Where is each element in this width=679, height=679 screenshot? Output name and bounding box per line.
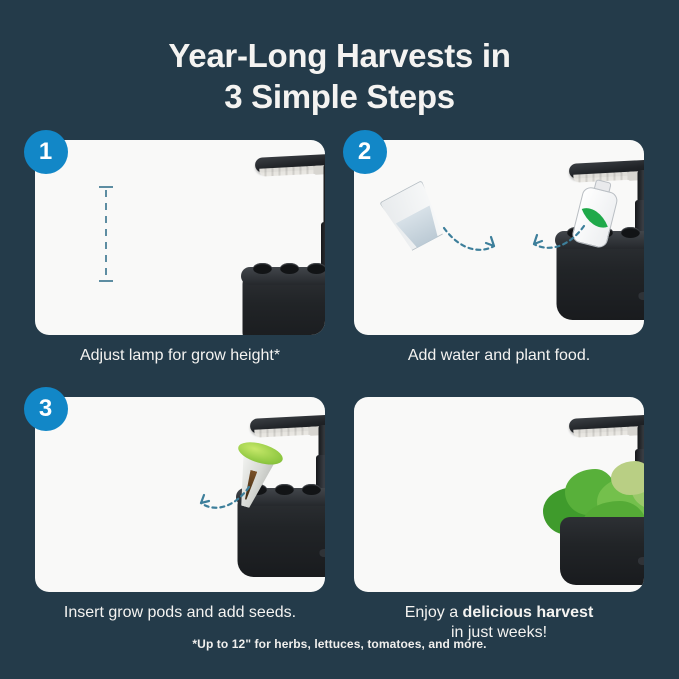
pod-hole — [253, 263, 272, 274]
pod-hole — [621, 227, 640, 238]
lamp-head-icon — [569, 156, 644, 179]
water-pour-arrow-icon — [442, 224, 502, 258]
measure-cap-top — [99, 186, 113, 188]
page-title-line-2: 3 Simple Steps — [0, 77, 679, 118]
footnote: *Up to 12" for herbs, lettuces, tomatoes… — [0, 637, 679, 651]
measure-dashed-line — [105, 190, 107, 278]
lamp-pole-upper — [324, 164, 326, 226]
page-title-line-1: Year-Long Harvests in — [0, 36, 679, 77]
measure-cap-bottom — [99, 280, 113, 282]
plant-leaf — [611, 461, 644, 495]
step-3-card — [35, 397, 325, 592]
step-4-card — [354, 397, 644, 592]
brand-logo-mark — [638, 557, 644, 565]
step-2-caption: Add water and plant food. — [354, 346, 644, 366]
step-3-badge: 3 — [24, 387, 68, 431]
steps-grid: 1 — [30, 140, 650, 644]
page-title: Year-Long Harvests in 3 Simple Steps — [0, 0, 679, 118]
pod-hole — [280, 263, 299, 274]
step-4: Enjoy a delicious harvest in just weeks! — [349, 397, 650, 644]
grow-pod-arrow-icon — [195, 483, 253, 517]
pod-hole — [275, 484, 294, 495]
step-3-caption: Insert grow pods and add seeds. — [35, 603, 325, 623]
lamp-head-icon — [569, 411, 644, 434]
plant-food-arrow-icon — [526, 222, 586, 256]
step-2: 2 — [349, 140, 650, 387]
garden-base — [560, 517, 644, 585]
pod-hole — [307, 263, 325, 274]
height-measurement-indicator — [99, 186, 113, 282]
pod-holes — [253, 262, 326, 276]
step-1-card — [35, 140, 325, 335]
step-3: 3 — [30, 397, 331, 644]
lamp-pole-upper — [638, 170, 645, 204]
brand-logo-mark — [638, 292, 644, 300]
step-4-caption-prefix: Enjoy a — [405, 604, 463, 621]
lamp-pole-upper — [319, 425, 326, 459]
step-1-badge: 1 — [24, 130, 68, 174]
brand-logo-mark — [319, 549, 325, 557]
step-4-caption-bold: delicious harvest — [463, 604, 594, 621]
garden-base-lid — [241, 267, 326, 285]
water-glass-icon — [379, 180, 449, 254]
step-2-card — [354, 140, 644, 335]
lamp-head-icon — [250, 411, 325, 434]
step-2-badge: 2 — [343, 130, 387, 174]
step-1: 1 — [30, 140, 331, 387]
pod-hole — [302, 484, 321, 495]
lamp-head-icon — [255, 150, 325, 173]
step-1-caption: Adjust lamp for grow height* — [35, 346, 325, 366]
garden-base — [243, 274, 326, 335]
